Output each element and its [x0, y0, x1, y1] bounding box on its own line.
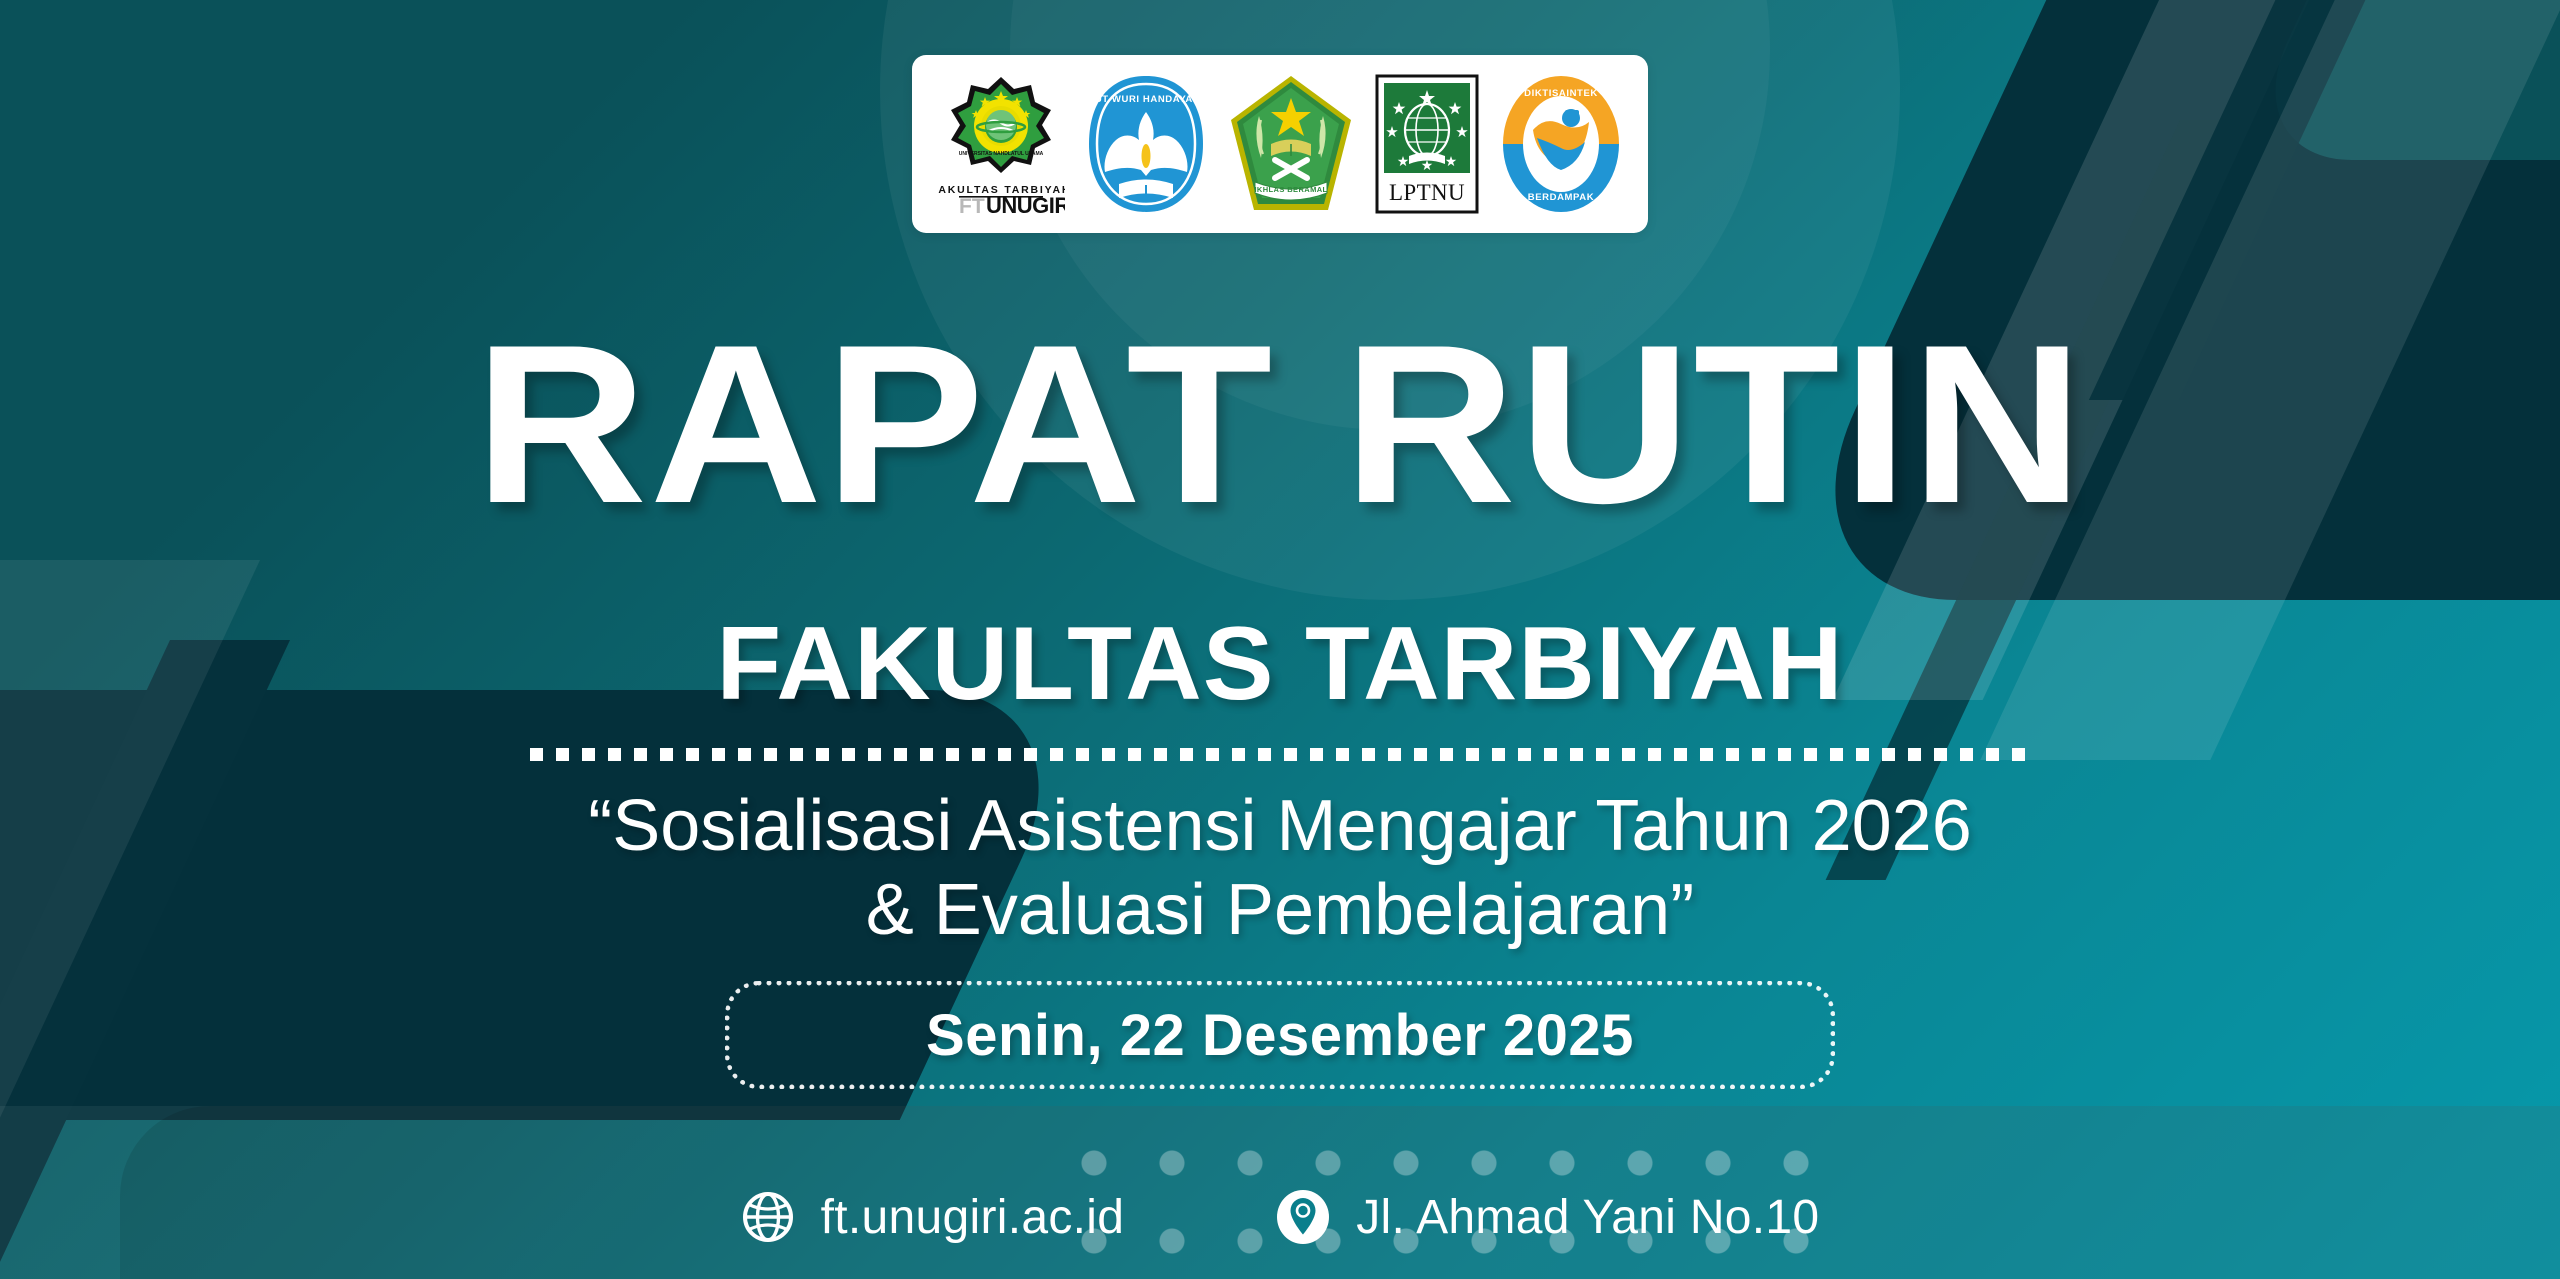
footer-website-label: ft.unugiri.ac.id [821, 1190, 1125, 1245]
poster-canvas: UNIVERSITAS NAHDLATUL ULAMA FAKULTAS TAR… [0, 0, 2560, 1279]
event-date-label: Senin, 22 Desember 2025 [926, 1002, 1634, 1069]
location-pin-icon [1276, 1188, 1330, 1246]
footer-website: ft.unugiri.ac.id [741, 1190, 1125, 1245]
poster-theme-line-1: “Sosialisasi Asistensi Mengajar Tahun 20… [0, 785, 2560, 869]
poster-footer: ft.unugiri.ac.id Jl. Ahmad Yani No.10 [0, 1188, 2560, 1246]
dotted-divider [530, 748, 2030, 761]
event-date-box: Senin, 22 Desember 2025 [725, 981, 1835, 1089]
poster-theme-line-2: & Evaluasi Pembelajaran” [0, 869, 2560, 953]
poster-theme: “Sosialisasi Asistensi Mengajar Tahun 20… [0, 785, 2560, 952]
poster-title: RAPAT RUTIN [0, 316, 2560, 533]
footer-address-label: Jl. Ahmad Yani No.10 [1356, 1190, 1819, 1245]
globe-icon [741, 1190, 795, 1244]
poster-content: RAPAT RUTIN FAKULTAS TARBIYAH “Sosialisa… [0, 0, 2560, 1279]
poster-subtitle: FAKULTAS TARBIYAH [0, 605, 2560, 724]
footer-address: Jl. Ahmad Yani No.10 [1276, 1188, 1819, 1246]
